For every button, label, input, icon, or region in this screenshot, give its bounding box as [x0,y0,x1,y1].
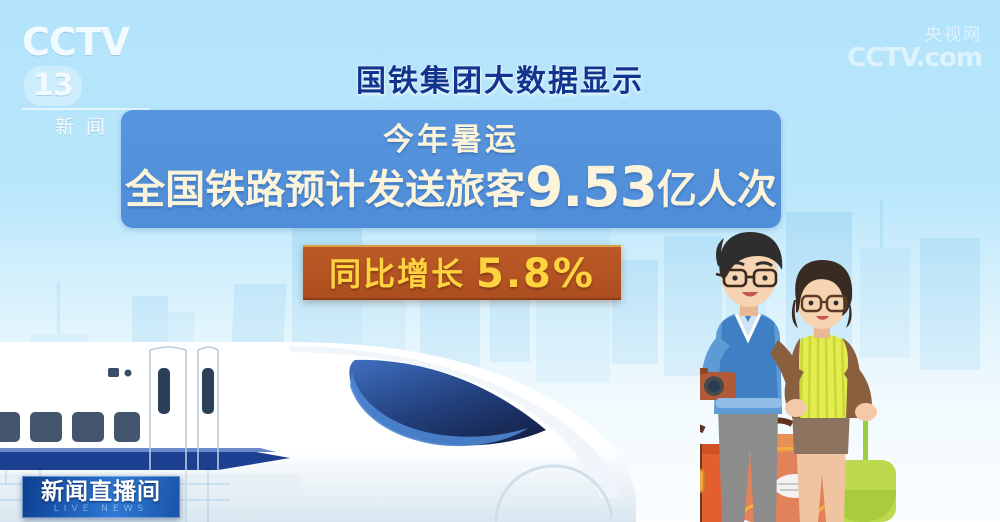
train-marker-light [108,368,119,377]
watermark-cn-label: 央视网 [847,20,982,45]
banner-suffix-unit: 亿人次 [657,168,777,212]
growth-value: 5.8% [476,251,595,297]
broadcast-screenshot: CCTV13 新闻 央视网 CCTV.com 国铁集团大数据显示 今年暑运 全国… [0,0,1000,522]
headline-title: 国铁集团大数据显示 [0,56,1000,100]
lower-third-program-banner: 新闻直播间 LIVE NEWS [22,476,180,518]
program-name-cn: 新闻直播间 [41,479,161,504]
train-stripe-highlight [0,448,276,452]
growth-label: 同比增长 [329,256,465,292]
growth-badge-text: 同比增长 5.8% [329,249,595,297]
growth-rate-badge: 同比增长 5.8% [303,245,621,300]
door-window-1 [158,368,170,414]
banner-line-1: 今年暑运 [121,110,781,159]
statistic-banner: 今年暑运 全国铁路预计发送旅客9.53亿人次 [121,110,781,228]
train-indicator-dot [125,370,132,377]
program-name-en: LIVE NEWS [54,504,148,515]
passenger-volume-value: 9.53 [525,155,657,219]
banner-line-2: 全国铁路预计发送旅客9.53亿人次 [121,159,781,218]
traveler-couple-illustration [700,222,1000,522]
banner-prefix-text: 全国铁路预计发送旅客 [125,168,525,212]
door-window-2 [202,368,214,414]
